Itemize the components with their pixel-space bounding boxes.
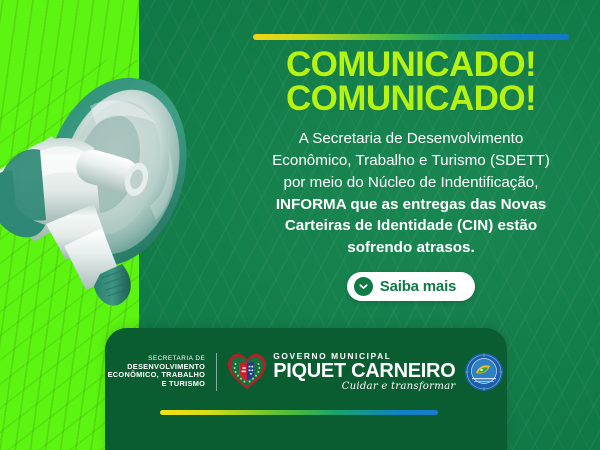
- footer-logo-row: SECRETARIA DE DESENVOLVIMENTO ECONÔMICO,…: [105, 346, 507, 398]
- municipal-seal-logo: [464, 352, 504, 392]
- government-name: PIQUET CARNEIRO: [273, 361, 455, 381]
- body-line-3: por meio do Núcleo de Indentificação,: [235, 172, 587, 194]
- cta-container: Saiba mais: [222, 272, 600, 301]
- body-bold-line-2: Carteiras de Identidade (CIN) estão: [235, 215, 587, 237]
- body-bold-line-3: sofrendo atrasos.: [235, 237, 587, 259]
- body-bold-line-1: INFORMA que as entregas das Novas: [235, 194, 587, 216]
- megaphone-icon: [0, 28, 218, 308]
- body-line-2: Econômico, Trabalho e Turismo (SDETT): [235, 150, 587, 172]
- gradient-accent-bar: [253, 34, 569, 40]
- headline-line-2: COMUNICADO!: [222, 82, 600, 116]
- page-title: COMUNICADO! COMUNICADO!: [222, 48, 600, 116]
- saiba-mais-label: Saiba mais: [380, 278, 456, 295]
- footer-gradient-bar: [160, 410, 438, 415]
- announcement-body: A Secretaria de Desenvolvimento Econômic…: [235, 128, 587, 259]
- piquet-carneiro-heart-logo: [227, 352, 267, 392]
- body-line-1: A Secretaria de Desenvolvimento: [235, 128, 587, 150]
- chevron-down-icon: [354, 277, 373, 296]
- announcement-content: COMUNICADO! COMUNICADO! A Secretaria de …: [222, 0, 600, 330]
- government-logo-text: GOVERNO MUNICIPAL PIQUET CARNEIRO Cuidar…: [267, 352, 455, 393]
- announcement-banner: COMUNICADO! COMUNICADO! A Secretaria de …: [0, 0, 600, 450]
- saiba-mais-button[interactable]: Saiba mais: [347, 272, 475, 301]
- sdett-logo-text: SECRETARIA DE DESENVOLVIMENTO ECONÔMICO,…: [108, 355, 217, 389]
- government-slogan: Cuidar e transformar: [273, 382, 455, 392]
- footer-divider: [216, 353, 217, 391]
- government-eyebrow: GOVERNO MUNICIPAL: [273, 352, 455, 360]
- footer-panel: SECRETARIA DE DESENVOLVIMENTO ECONÔMICO,…: [105, 328, 507, 450]
- sdett-line-4: E TURISMO: [108, 380, 206, 389]
